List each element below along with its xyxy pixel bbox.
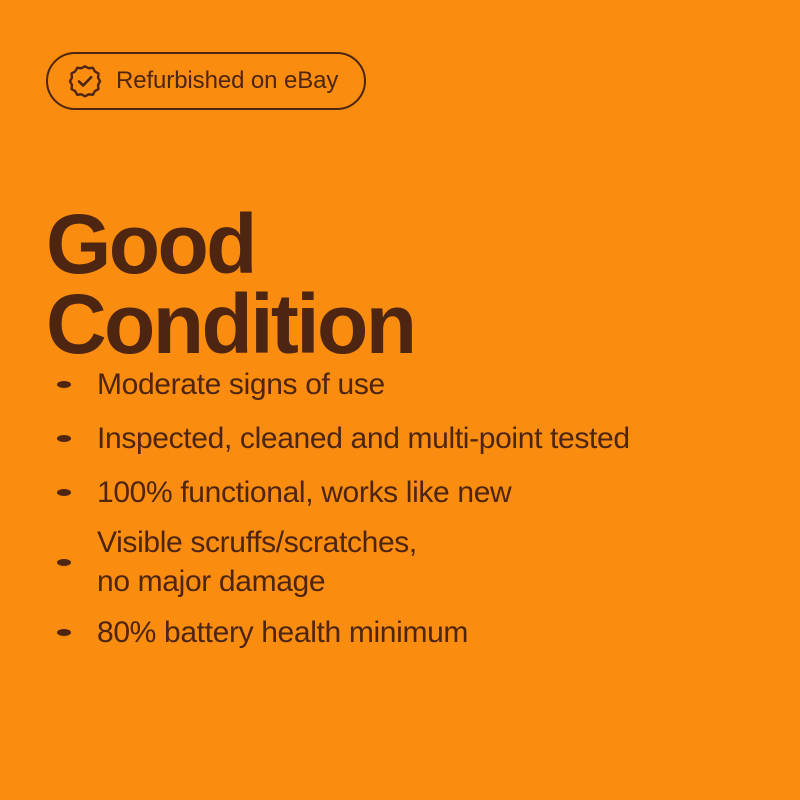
list-item-label: 100% functional, works like new [97, 473, 511, 512]
condition-feature-list: Moderate signs of use Inspected, cleaned… [46, 357, 776, 659]
list-item-label: Visible scruffs/scratches, no major dama… [97, 523, 417, 601]
list-item: Moderate signs of use [46, 357, 776, 411]
bullet-dot-icon [57, 629, 71, 636]
list-item-label: Moderate signs of use [97, 365, 385, 404]
bullet-dot-icon [57, 381, 71, 388]
page-title-line-1: Good [46, 204, 766, 284]
bullet-dot-icon [57, 489, 71, 496]
refurbished-condition-card: Refurbished on eBay Good Condition Moder… [0, 0, 800, 800]
refurbished-badge: Refurbished on eBay [46, 52, 366, 110]
list-item: 100% functional, works like new [46, 465, 776, 519]
page-title: Good Condition [46, 204, 766, 364]
page-title-line-2: Condition [46, 284, 766, 364]
list-item-label: Inspected, cleaned and multi-point teste… [97, 419, 630, 458]
list-item-label: 80% battery health minimum [97, 613, 468, 652]
bullet-dot-icon [57, 435, 71, 442]
verified-rosette-check-icon [68, 64, 102, 98]
list-item: 80% battery health minimum [46, 605, 776, 659]
list-item: Inspected, cleaned and multi-point teste… [46, 411, 776, 465]
bullet-dot-icon [57, 559, 71, 566]
refurbished-badge-label: Refurbished on eBay [116, 69, 338, 93]
list-item: Visible scruffs/scratches, no major dama… [46, 519, 776, 605]
